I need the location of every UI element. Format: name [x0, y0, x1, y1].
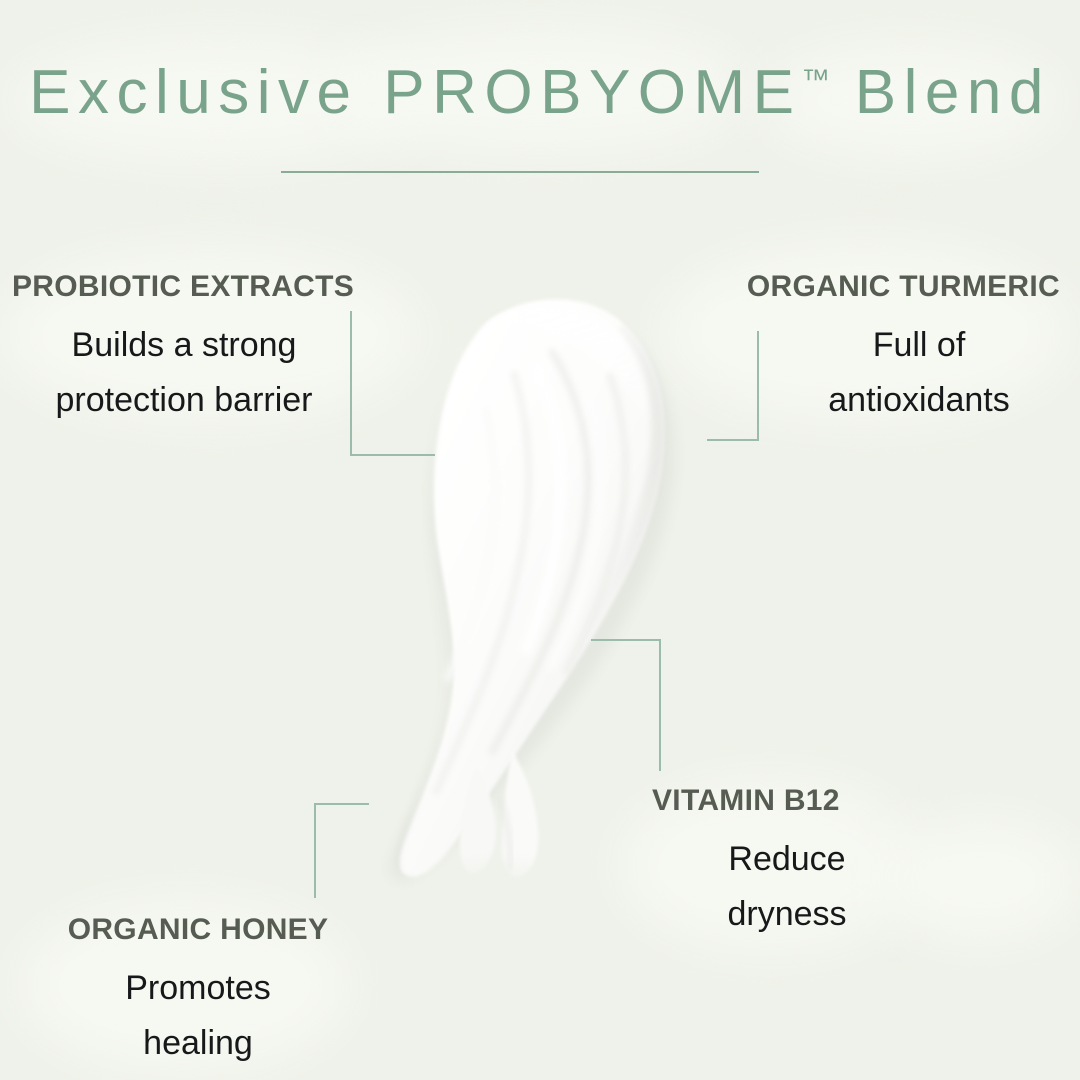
callout-body-line: Builds a strong — [12, 318, 356, 373]
connector-segment-horizontal — [350, 454, 435, 456]
connector-line-honey — [314, 803, 372, 901]
callout-probiotic-extracts: PROBIOTIC EXTRACTS Builds a strong prote… — [12, 272, 404, 428]
callout-heading-probiotic: PROBIOTIC EXTRACTS — [12, 272, 404, 302]
ingredient-infographic: Exclusive PROBYOME™ Blend — [0, 0, 1080, 1080]
callout-body-line: protection barrier — [12, 373, 356, 428]
callout-body-honey: Promotes healing — [28, 961, 368, 1071]
callout-body-line: antioxidants — [778, 373, 1060, 428]
connector-segment-horizontal — [591, 639, 661, 641]
callout-body-line: Full of — [778, 318, 1060, 373]
callout-vitamin-b12: VITAMIN B12 Reduce dryness — [652, 786, 982, 942]
callout-organic-turmeric: ORGANIC TURMERIC Full of antioxidants — [668, 272, 1060, 428]
connector-segment-horizontal — [314, 803, 369, 805]
callout-body-turmeric: Full of antioxidants — [668, 318, 1060, 428]
page-title-suffix: Blend — [830, 58, 1051, 127]
callout-body-line: Reduce — [652, 832, 922, 887]
connector-segment-vertical — [314, 803, 316, 898]
connector-segment-vertical — [659, 639, 661, 771]
title-divider — [281, 171, 759, 173]
page-title: Exclusive PROBYOME™ Blend — [0, 62, 1080, 124]
callout-organic-honey: ORGANIC HONEY Promotes healing — [28, 915, 368, 1071]
callout-heading-honey: ORGANIC HONEY — [28, 915, 368, 945]
connector-segment-horizontal — [707, 439, 759, 441]
callout-body-vitamin: Reduce dryness — [652, 832, 982, 942]
callout-body-line: Promotes — [28, 961, 368, 1016]
trademark-symbol: ™ — [802, 64, 831, 96]
callout-body-probiotic: Builds a strong protection barrier — [12, 318, 404, 428]
callout-body-line: dryness — [652, 887, 922, 942]
callout-heading-vitamin: VITAMIN B12 — [652, 786, 982, 816]
page-title-prefix: Exclusive PROBYOME — [29, 58, 801, 127]
callout-heading-turmeric: ORGANIC TURMERIC — [668, 272, 1060, 302]
connector-line-vitamin — [591, 639, 663, 774]
callout-body-line: healing — [28, 1016, 368, 1071]
